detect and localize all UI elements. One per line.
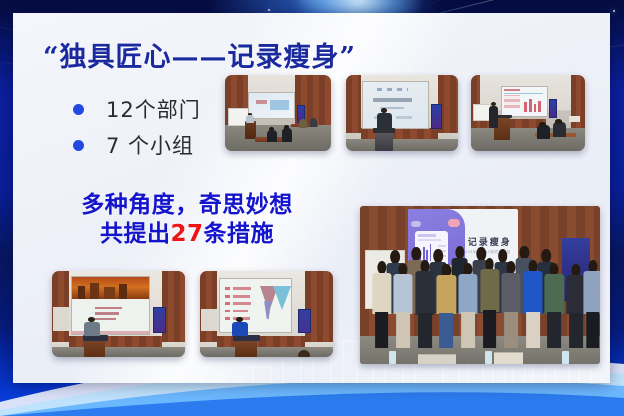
background-dot (613, 10, 615, 12)
bullet-dot-icon (73, 140, 84, 151)
presentation-slide: “独具匠心——记录瘦身” 12个部门 7 个小组 多种角度，奇思妙想 共提出27… (13, 13, 610, 383)
bullet-dot-icon (73, 104, 84, 115)
headline-prefix: 共提出 (100, 221, 171, 247)
bullet-label: 12个部门 (106, 94, 201, 124)
headline-block: 多种角度，奇思妙想 共提出27条措施 (61, 191, 313, 250)
headline-suffix: 条措施 (204, 221, 275, 247)
photo-presenter-with-image-slide (52, 271, 185, 357)
page-title: “独具匠心——记录瘦身” (43, 35, 356, 74)
list-item: 7 个小组 (73, 127, 201, 163)
headline-line-1: 多种角度，奇思妙想 (81, 192, 293, 218)
bullet-label: 7 个小组 (106, 130, 194, 160)
bullet-list: 12个部门 7 个小组 (73, 91, 201, 163)
headline-number: 27 (170, 221, 203, 247)
background-dot (268, 9, 270, 11)
photo-presenter-with-chart-right (471, 75, 585, 151)
headline-line-2: 共提出27条措施 (61, 220, 313, 249)
photo-group-photo: 记录瘦身 2024年第1-11期项目总结 (360, 206, 600, 364)
photo-presenter-at-podium-center (346, 75, 458, 151)
background-streak (420, 0, 624, 9)
slide-stage: “独具匠心——记录瘦身” 12个部门 7 个小组 多种角度，奇思妙想 共提出27… (0, 0, 624, 416)
photo-female-presenter-funnel-slide (200, 271, 333, 357)
photo-lecture-hall-wide-left (225, 75, 331, 151)
list-item: 12个部门 (73, 91, 201, 127)
